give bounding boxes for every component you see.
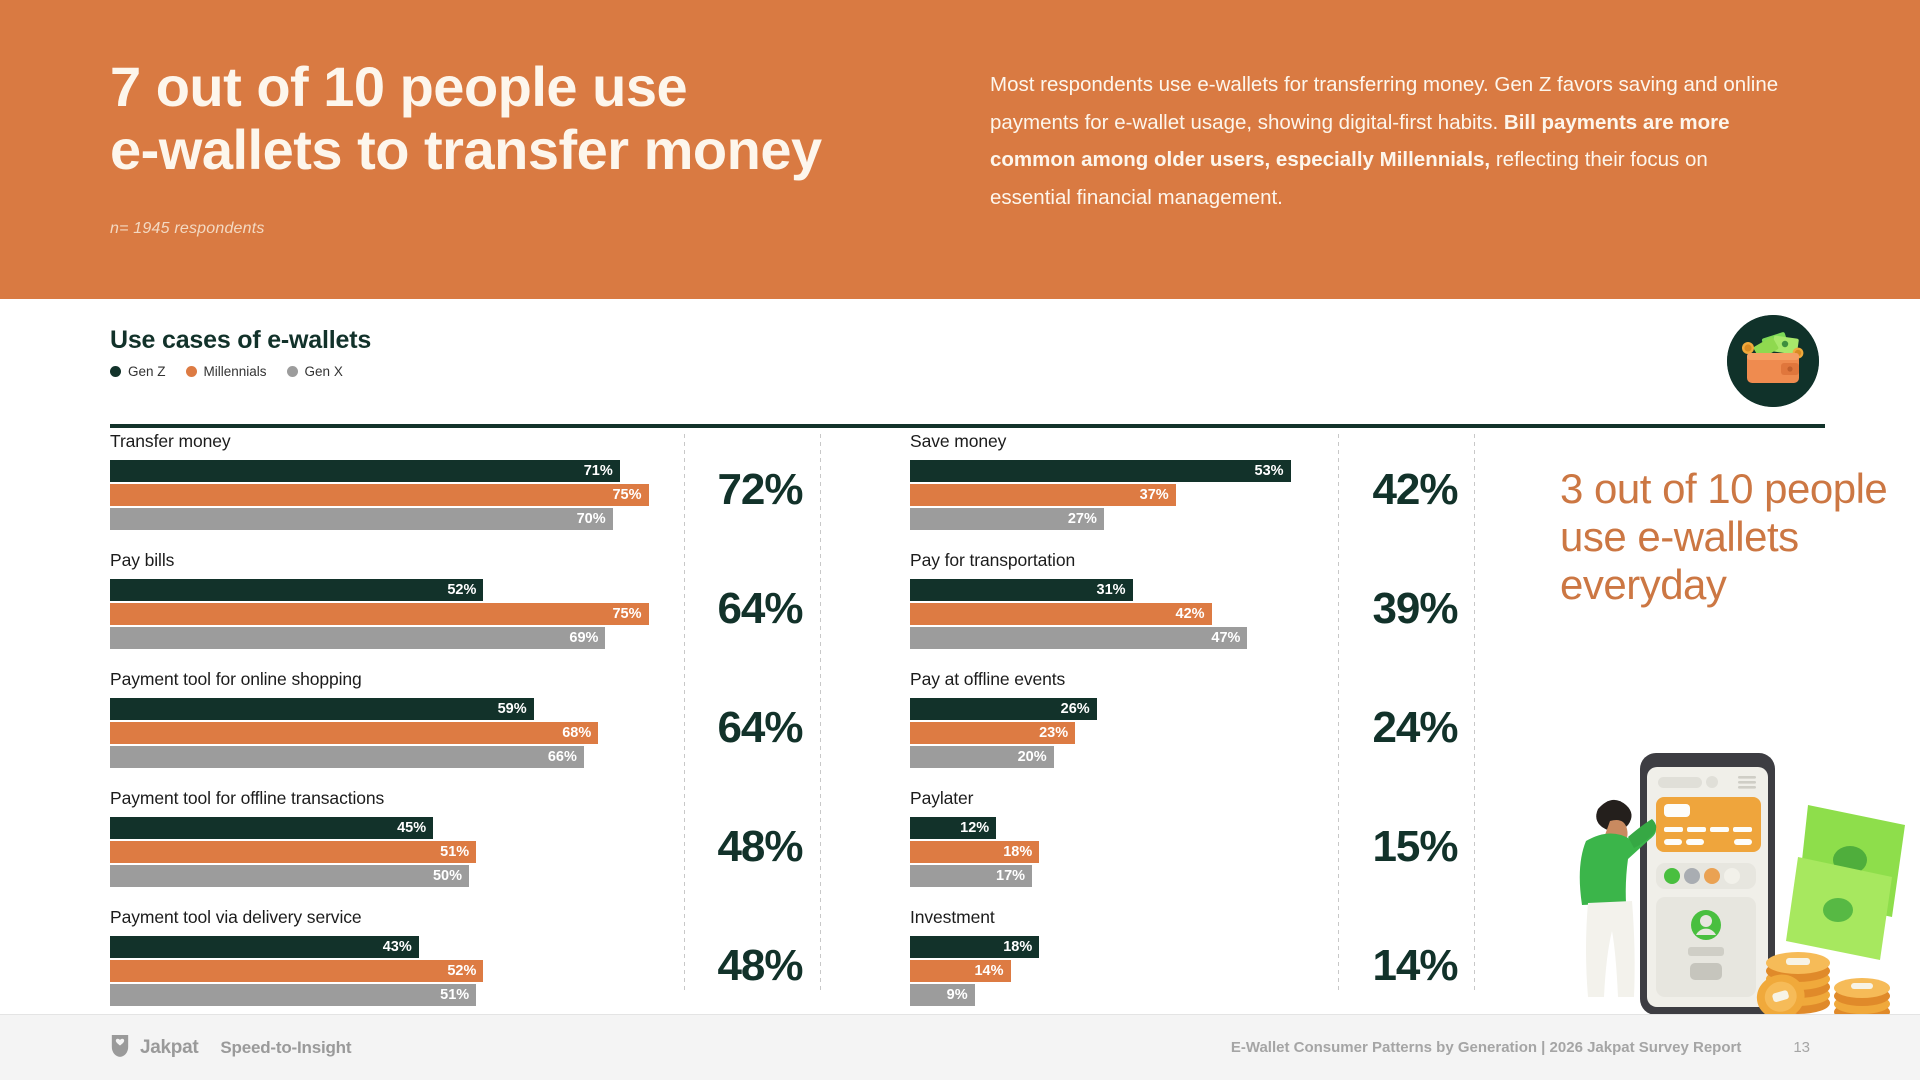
footer-document-title: E-Wallet Consumer Patterns by Generation…	[1231, 1039, 1741, 1056]
bar-mill[interactable]: 51%	[110, 841, 476, 863]
bar-row: 12%	[910, 817, 1335, 839]
chart-title: Use cases of e-wallets	[110, 326, 1810, 355]
bar-value-label: 27%	[1068, 511, 1104, 527]
bar-group-label: Pay for transportation	[910, 549, 1335, 571]
bar-row: 59%	[110, 698, 670, 720]
bar-genz[interactable]: 52%	[110, 579, 483, 601]
bar-value-label: 9%	[947, 987, 975, 1003]
bar-group: Payment tool via delivery service43%52%5…	[110, 906, 670, 1025]
respondents-note: n= 1945 respondents	[110, 220, 980, 238]
bar-value-label: 51%	[440, 987, 476, 1003]
bar-row: 71%	[110, 460, 670, 482]
total-column-left: 72%64%64%48%48%	[690, 430, 830, 1025]
bar-value-label: 42%	[1176, 606, 1212, 622]
bar-group-bars: 71%75%70%	[110, 460, 670, 530]
headline-line-2: e-wallets to transfer money	[110, 118, 980, 181]
bar-row: 70%	[110, 508, 670, 530]
bar-row: 9%	[910, 984, 1335, 1006]
bar-mill[interactable]: 52%	[110, 960, 483, 982]
bar-value-label: 69%	[569, 630, 605, 646]
bar-value-label: 59%	[498, 701, 534, 717]
total-column-right: 42%39%24%15%14%	[1345, 430, 1485, 1025]
bar-group: Payment tool for offline transactions45%…	[110, 787, 670, 906]
footer-meta: E-Wallet Consumer Patterns by Generation…	[1231, 1039, 1810, 1056]
bar-row: 75%	[110, 603, 670, 625]
bar-row: 66%	[110, 746, 670, 768]
bar-genx[interactable]: 50%	[110, 865, 469, 887]
bar-row: 52%	[110, 579, 670, 601]
bar-value-label: 17%	[996, 868, 1032, 884]
total-value: 48%	[717, 944, 802, 988]
bar-value-label: 18%	[1003, 939, 1039, 955]
bar-group: Investment18%14%9%	[910, 906, 1335, 1025]
bar-row: 50%	[110, 865, 670, 887]
bar-group-bars: 59%68%66%	[110, 698, 670, 768]
bar-genz[interactable]: 59%	[110, 698, 534, 720]
legend-dot-icon	[186, 366, 197, 377]
right-callout-panel: 3 out of 10 people use e-wallets everyda…	[1560, 465, 1920, 609]
bar-value-label: 43%	[383, 939, 419, 955]
brand-name: Jakpat	[140, 1037, 198, 1059]
bar-group-bars: 26%23%20%	[910, 698, 1335, 768]
bar-row: 51%	[110, 984, 670, 1006]
bar-value-label: 71%	[584, 463, 620, 479]
total-cell: 64%	[690, 549, 830, 668]
bar-genz[interactable]: 26%	[910, 698, 1097, 720]
bar-mill[interactable]: 37%	[910, 484, 1176, 506]
bar-value-label: 37%	[1140, 487, 1176, 503]
bar-value-label: 75%	[612, 487, 648, 503]
bar-group: Pay bills52%75%69%	[110, 549, 670, 668]
bar-group-bars: 18%14%9%	[910, 936, 1335, 1006]
bar-mill[interactable]: 75%	[110, 484, 649, 506]
bar-group-label: Pay at offline events	[910, 668, 1335, 690]
bar-row: 31%	[910, 579, 1335, 601]
total-value: 39%	[1372, 587, 1457, 631]
bar-mill[interactable]: 68%	[110, 722, 598, 744]
legend-item-gen-x[interactable]: Gen X	[287, 364, 343, 379]
bar-group-label: Payment tool via delivery service	[110, 906, 670, 928]
footer-page-number: 13	[1793, 1039, 1810, 1056]
wallet-with-cash-icon	[1727, 315, 1819, 407]
total-value: 15%	[1372, 825, 1457, 869]
bar-genx[interactable]: 17%	[910, 865, 1032, 887]
bar-mill[interactable]: 23%	[910, 722, 1075, 744]
bar-mill[interactable]: 14%	[910, 960, 1011, 982]
person-paying-with-phone-illustration	[1540, 745, 1920, 1025]
total-cell: 48%	[690, 906, 830, 1025]
bar-genz[interactable]: 12%	[910, 817, 996, 839]
bar-row: 68%	[110, 722, 670, 744]
bar-value-label: 53%	[1255, 463, 1291, 479]
bar-group-label: Payment tool for offline transactions	[110, 787, 670, 809]
bar-group-bars: 45%51%50%	[110, 817, 670, 887]
chart-header: Use cases of e-wallets Gen ZMillennialsG…	[110, 326, 1810, 379]
bar-row: 45%	[110, 817, 670, 839]
total-cell: 72%	[690, 430, 830, 549]
total-cell: 15%	[1345, 787, 1485, 906]
bar-value-label: 52%	[447, 582, 483, 598]
bar-genx[interactable]: 47%	[910, 627, 1247, 649]
bar-value-label: 75%	[612, 606, 648, 622]
bar-genz[interactable]: 45%	[110, 817, 433, 839]
footer-brand: Jakpat Speed-to-Insight	[110, 1033, 351, 1062]
total-value: 24%	[1372, 706, 1457, 750]
bar-row: 43%	[110, 936, 670, 958]
divider-right-1	[1338, 434, 1339, 994]
total-value: 64%	[717, 706, 802, 750]
bar-row: 27%	[910, 508, 1335, 530]
bar-row: 42%	[910, 603, 1335, 625]
bar-row: 14%	[910, 960, 1335, 982]
bar-row: 17%	[910, 865, 1335, 887]
brand-tagline: Speed-to-Insight	[220, 1038, 351, 1058]
bar-genx[interactable]: 9%	[910, 984, 975, 1006]
bar-group-label: Investment	[910, 906, 1335, 928]
bar-genz[interactable]: 31%	[910, 579, 1133, 601]
total-cell: 24%	[1345, 668, 1485, 787]
bar-row: 47%	[910, 627, 1335, 649]
bar-group-label: Paylater	[910, 787, 1335, 809]
bar-mill[interactable]: 18%	[910, 841, 1039, 863]
bar-row: 18%	[910, 841, 1335, 863]
right-callout-headline: 3 out of 10 people use e-wallets everyda…	[1560, 465, 1920, 609]
total-value: 42%	[1372, 468, 1457, 512]
bar-group: Paylater12%18%17%	[910, 787, 1335, 906]
bar-row: 18%	[910, 936, 1335, 958]
bar-row: 23%	[910, 722, 1335, 744]
chart-column-left: Transfer money71%75%70%Pay bills52%75%69…	[110, 430, 670, 1025]
bar-group-bars: 12%18%17%	[910, 817, 1335, 887]
lead-paragraph: Most respondents use e-wallets for trans…	[990, 66, 1790, 216]
bar-value-label: 31%	[1097, 582, 1133, 598]
divider-left-1	[684, 434, 685, 994]
bar-row: 75%	[110, 484, 670, 506]
bar-group-bars: 31%42%47%	[910, 579, 1335, 649]
bar-mill[interactable]: 42%	[910, 603, 1212, 625]
legend-item-millennials[interactable]: Millennials	[186, 364, 267, 379]
total-cell: 39%	[1345, 549, 1485, 668]
bar-row: 37%	[910, 484, 1335, 506]
bar-group-label: Save money	[910, 430, 1335, 452]
total-cell: 14%	[1345, 906, 1485, 1025]
legend-label: Gen X	[305, 364, 343, 379]
bar-group-label: Payment tool for online shopping	[110, 668, 670, 690]
jakpat-logo-icon	[110, 1033, 130, 1062]
bar-value-label: 18%	[1003, 844, 1039, 860]
bar-group: Payment tool for online shopping59%68%66…	[110, 668, 670, 787]
bar-genx[interactable]: 27%	[910, 508, 1104, 530]
headline-line-1: 7 out of 10 people use	[110, 55, 687, 118]
bar-row: 20%	[910, 746, 1335, 768]
bar-genx[interactable]: 70%	[110, 508, 613, 530]
bar-group: Save money53%37%27%	[910, 430, 1335, 549]
bar-group-label: Pay bills	[110, 549, 670, 571]
bar-row: 26%	[910, 698, 1335, 720]
legend-item-gen-z[interactable]: Gen Z	[110, 364, 166, 379]
bar-value-label: 52%	[447, 963, 483, 979]
bar-genz[interactable]: 18%	[910, 936, 1039, 958]
bar-genx[interactable]: 20%	[910, 746, 1054, 768]
total-cell: 64%	[690, 668, 830, 787]
total-cell: 48%	[690, 787, 830, 906]
legend-label: Gen Z	[128, 364, 166, 379]
bar-group-bars: 43%52%51%	[110, 936, 670, 1006]
total-value: 72%	[717, 468, 802, 512]
bar-row: 69%	[110, 627, 670, 649]
total-cell: 42%	[1345, 430, 1485, 549]
bar-value-label: 47%	[1211, 630, 1247, 646]
bar-genz[interactable]: 43%	[110, 936, 419, 958]
total-value: 64%	[717, 587, 802, 631]
bar-value-label: 51%	[440, 844, 476, 860]
legend-label: Millennials	[204, 364, 267, 379]
total-value: 14%	[1372, 944, 1457, 988]
header-left-block: 7 out of 10 people use e-wallets to tran…	[0, 0, 980, 299]
total-value: 48%	[717, 825, 802, 869]
chart-column-right: Save money53%37%27%Pay for transportatio…	[910, 430, 1335, 1025]
bar-group-bars: 53%37%27%	[910, 460, 1335, 530]
page-headline: 7 out of 10 people use e-wallets to tran…	[110, 55, 980, 182]
bar-group-bars: 52%75%69%	[110, 579, 670, 649]
bar-value-label: 45%	[397, 820, 433, 836]
bar-genx[interactable]: 51%	[110, 984, 476, 1006]
legend-dot-icon	[287, 366, 298, 377]
bar-row: 53%	[910, 460, 1335, 482]
bar-value-label: 50%	[433, 868, 469, 884]
page-footer: Jakpat Speed-to-Insight E-Wallet Consume…	[0, 1014, 1920, 1080]
header-banner: 7 out of 10 people use e-wallets to tran…	[0, 0, 1920, 299]
legend-dot-icon	[110, 366, 121, 377]
bar-value-label: 20%	[1018, 749, 1054, 765]
bar-value-label: 12%	[960, 820, 996, 836]
bar-row: 52%	[110, 960, 670, 982]
bar-value-label: 68%	[562, 725, 598, 741]
bar-genx[interactable]: 66%	[110, 746, 584, 768]
header-right-block: Most respondents use e-wallets for trans…	[980, 0, 1860, 299]
bar-genz[interactable]: 71%	[110, 460, 620, 482]
bar-row: 51%	[110, 841, 670, 863]
bar-value-label: 70%	[577, 511, 613, 527]
bar-value-label: 14%	[974, 963, 1010, 979]
bar-value-label: 66%	[548, 749, 584, 765]
chart-legend: Gen ZMillennialsGen X	[110, 364, 1810, 379]
bar-genx[interactable]: 69%	[110, 627, 605, 649]
bar-group: Transfer money71%75%70%	[110, 430, 670, 549]
bar-group-label: Transfer money	[110, 430, 670, 452]
bar-genz[interactable]: 53%	[910, 460, 1291, 482]
bar-value-label: 26%	[1061, 701, 1097, 717]
bar-group: Pay at offline events26%23%20%	[910, 668, 1335, 787]
chart-header-divider	[110, 424, 1825, 428]
bar-value-label: 23%	[1039, 725, 1075, 741]
bar-mill[interactable]: 75%	[110, 603, 649, 625]
bar-group: Pay for transportation31%42%47%	[910, 549, 1335, 668]
